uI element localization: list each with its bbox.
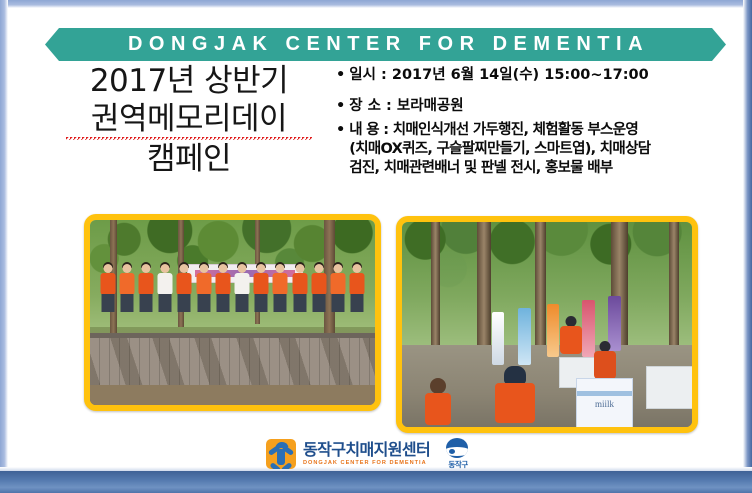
photo-booths-path: miilk <box>396 216 698 433</box>
detail-datetime-text: 일시 : 2017년 6월 14일(수) 15:00~17:00 <box>349 66 736 85</box>
campaign-poster: DONGJAK CENTER FOR DEMENTIA 2017년 상반기 권역… <box>0 0 752 493</box>
detail-content-line-2: (치매OX퀴즈, 구슬팔찌만들기, 스마트엽), 치매상담 <box>349 140 736 159</box>
page-title: 2017년 상반기 권역메모리데이 캠페인 <box>66 62 312 178</box>
footer-logo: 동작구치매지원센터 DONGJAK CENTER FOR DEMENTIA 동작… <box>266 438 473 470</box>
logo-korean-name: 동작구치매지원센터 <box>303 442 430 458</box>
frame-left-edge <box>0 0 8 472</box>
headline-line-3: 캠페인 <box>66 140 312 178</box>
detail-row-content: • 내 용 : 치매인식개선 가두행진, 체험활동 부스운영 (치매OX퀴즈, … <box>336 121 736 178</box>
photo-group-deck <box>84 214 381 411</box>
detail-content-text: 내 용 : 치매인식개선 가두행진, 체험활동 부스운영 (치매OX퀴즈, 구슬… <box>349 121 736 178</box>
frame-right-edge <box>743 0 752 472</box>
headline-line-2: 권역메모리데이 <box>66 100 312 140</box>
frame-top-edge <box>0 0 752 8</box>
detail-row-location: • 장 소 : 보라매공원 <box>336 97 736 116</box>
logo-english-name: DONGJAK CENTER FOR DEMENTIA <box>303 461 430 467</box>
detail-location-line: 장 소 : 보라매공원 <box>349 97 736 116</box>
banner-title-text: DONGJAK CENTER FOR DEMENTIA <box>122 33 649 56</box>
photo-group-deck-scene <box>90 220 375 405</box>
bullet-icon: • <box>336 66 345 84</box>
headline-line-1: 2017년 상반기 <box>66 62 312 100</box>
detail-datetime-line: 일시 : 2017년 6월 14일(수) 15:00~17:00 <box>349 66 736 85</box>
detail-location-text: 장 소 : 보라매공원 <box>349 97 736 116</box>
dongjak-person-icon <box>266 439 296 469</box>
detail-content-line-3: 검진, 치매관련배너 및 판넬 전시, 홍보물 배부 <box>349 159 736 178</box>
bullet-icon: • <box>336 97 345 115</box>
photo-booths-path-scene: miilk <box>402 222 692 427</box>
gu-emblem-label: 동작구 <box>443 459 473 470</box>
frame-bottom-band <box>0 471 752 493</box>
bullet-icon: • <box>336 121 345 139</box>
dongjak-gu-emblem-icon: 동작구 <box>443 438 473 470</box>
detail-content-line-1: 내 용 : 치매인식개선 가두행진, 체험활동 부스운영 <box>349 121 736 140</box>
logo-wordmark: 동작구치매지원센터 DONGJAK CENTER FOR DEMENTIA <box>303 442 430 467</box>
title-banner: DONGJAK CENTER FOR DEMENTIA <box>45 28 726 61</box>
detail-row-datetime: • 일시 : 2017년 6월 14일(수) 15:00~17:00 <box>336 66 736 85</box>
milk-box-label: miilk <box>577 399 632 409</box>
event-details-list: • 일시 : 2017년 6월 14일(수) 15:00~17:00 • 장 소… <box>336 66 736 178</box>
